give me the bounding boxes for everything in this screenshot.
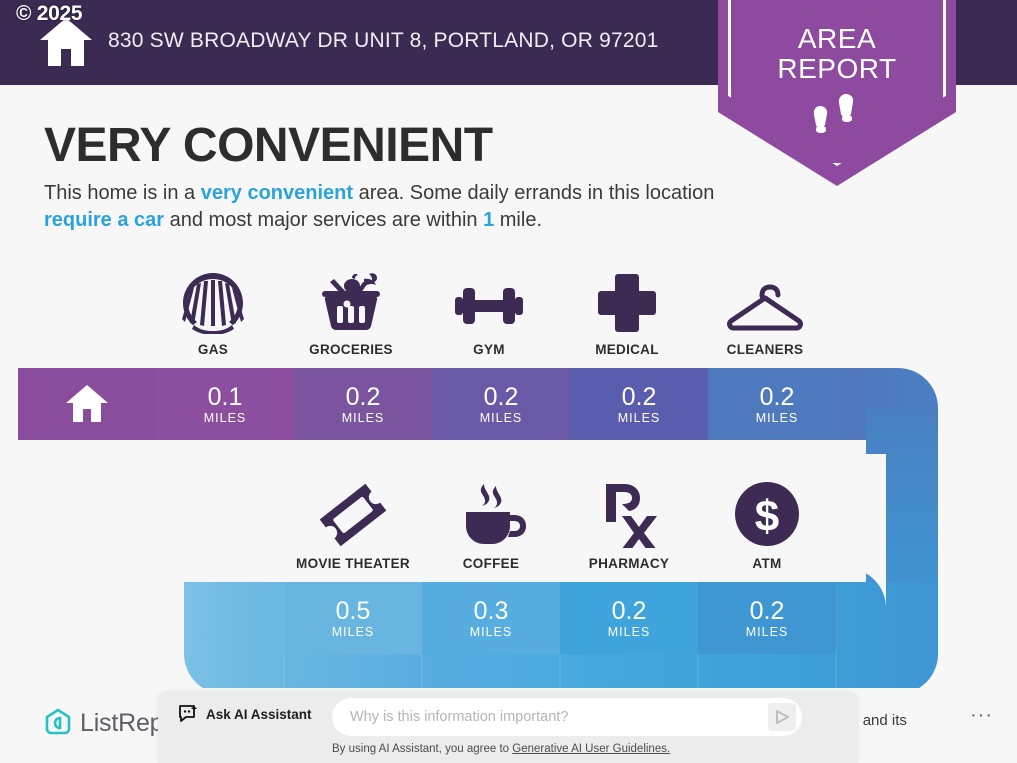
ai-disclaimer: By using AI Assistant, you agree to Gene…	[332, 743, 670, 755]
badge-line-1: AREA	[718, 24, 956, 54]
dumbbell-icon	[420, 262, 558, 334]
gas-shell-icon	[144, 262, 282, 334]
subtitle-part-3: and most major services are within	[164, 209, 483, 231]
poi-gas: GAS	[144, 262, 282, 357]
more-options-button[interactable]: ···	[970, 704, 993, 727]
copyright-watermark: © 2025	[16, 2, 82, 26]
poi-label: GAS	[144, 342, 282, 357]
listreports-logo: ListRep	[44, 708, 163, 738]
poi-medical: MEDICAL	[558, 262, 696, 357]
subtitle-highlight-1: very convenient	[201, 182, 353, 204]
listreports-logo-text: ListRep	[80, 709, 163, 738]
poi-label: PHARMACY	[560, 556, 698, 571]
page-title: VERY CONVENIENT	[44, 118, 493, 173]
area-report-badge: AREA REPORT	[718, 0, 956, 186]
listreports-logo-icon	[44, 708, 72, 738]
property-address: 830 SW BROADWAY DR UNIT 8, PORTLAND, OR …	[108, 29, 659, 53]
generative-ai-guidelines-link[interactable]: Generative AI User Guidelines.	[512, 743, 670, 755]
poi-label: MOVIE THEATER	[284, 556, 422, 571]
medical-cross-icon	[558, 262, 696, 334]
poi-pharmacy: PHARMACY	[560, 476, 698, 571]
prescription-rx-icon	[560, 476, 698, 548]
poi-row-bottom: MOVIE THEATER COFFEE	[284, 476, 836, 571]
badge-label: AREA REPORT	[718, 24, 956, 84]
chat-sparkle-icon	[178, 704, 198, 724]
ai-disclaimer-prefix: By using AI Assistant, you agree to	[332, 743, 512, 755]
poi-row-top: GAS	[144, 262, 834, 357]
page-subtitle: This home is in a very convenient area. …	[44, 180, 724, 234]
movie-ticket-icon	[284, 476, 422, 548]
poi-coffee: COFFEE	[422, 476, 560, 571]
poi-label: COFFEE	[422, 556, 560, 571]
grocery-basket-icon	[282, 262, 420, 334]
svg-text:$: $	[755, 492, 779, 541]
poi-label: MEDICAL	[558, 342, 696, 357]
send-triangle-icon	[773, 708, 791, 726]
poi-groceries: GROCERIES	[282, 262, 420, 357]
ai-prompt-input[interactable]	[350, 709, 768, 725]
ai-input-container[interactable]	[332, 698, 802, 736]
subtitle-highlight-3: 1	[483, 209, 494, 231]
poi-label: CLEANERS	[696, 342, 834, 357]
area-report-page: © 2025 830 SW BROADWAY DR UNIT 8, PORTLA…	[0, 0, 1017, 763]
ask-ai-assistant-label: Ask AI Assistant	[178, 704, 312, 724]
poi-cleaners: CLEANERS	[696, 262, 834, 357]
subtitle-part-1: This home is in a	[44, 182, 201, 204]
poi-label: ATM	[698, 556, 836, 571]
coffee-cup-icon	[422, 476, 560, 548]
subtitle-part-2: area. Some daily errands in this locatio…	[353, 182, 714, 204]
header-right-strip	[1003, 0, 1017, 85]
footprints-icon	[810, 92, 868, 140]
dollar-circle-icon: $	[698, 476, 836, 548]
ai-assistant-panel: Ask AI Assistant ··· By using AI Assista…	[158, 692, 858, 763]
subtitle-part-4: mile.	[494, 209, 542, 231]
badge-line-2: REPORT	[718, 54, 956, 84]
clothes-hanger-icon	[696, 262, 834, 334]
poi-atm: $ ATM	[698, 476, 836, 571]
poi-movie-theater: MOVIE THEATER	[284, 476, 422, 571]
poi-label: GROCERIES	[282, 342, 420, 357]
poi-label: GYM	[420, 342, 558, 357]
send-button[interactable]	[768, 703, 796, 731]
poi-gym: GYM	[420, 262, 558, 357]
ask-ai-assistant-text: Ask AI Assistant	[206, 707, 312, 722]
subtitle-highlight-2: require a car	[44, 209, 164, 231]
